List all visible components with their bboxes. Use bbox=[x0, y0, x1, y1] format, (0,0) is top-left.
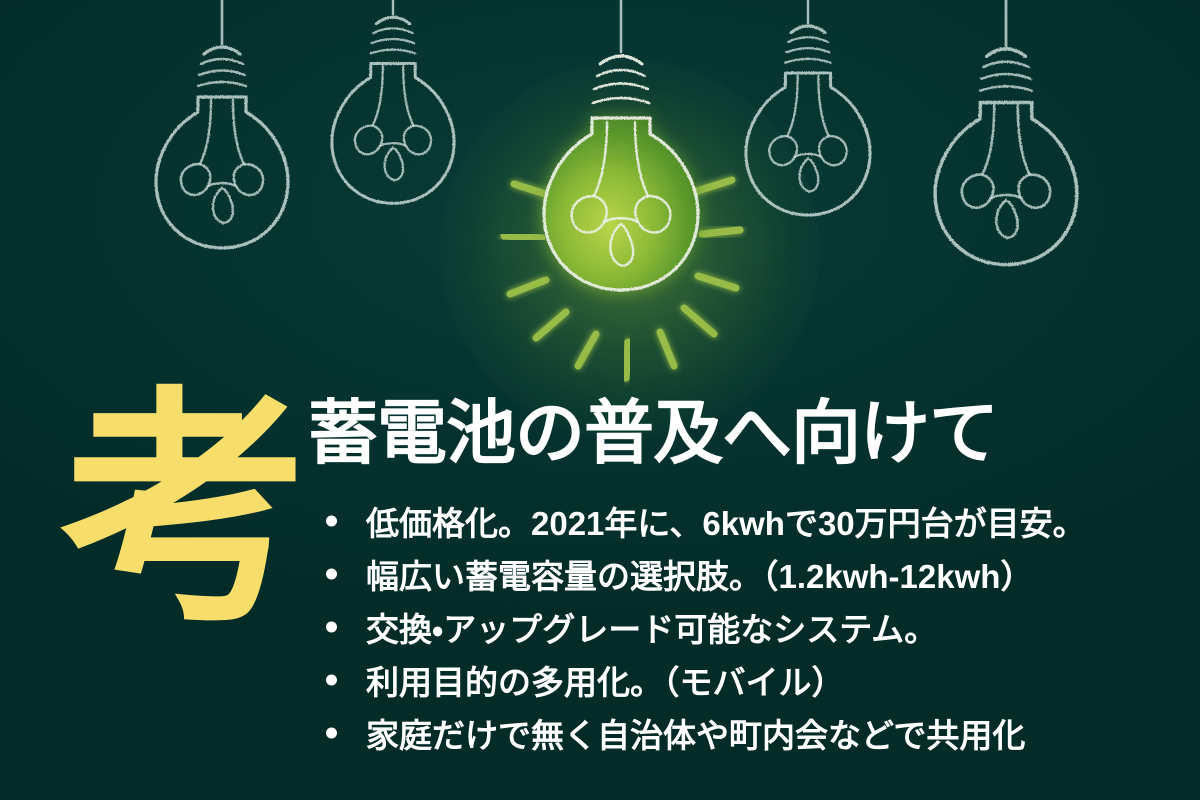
list-item-label: 交換・アップグレード可能なシステム。 bbox=[366, 603, 937, 651]
list-item-label: 幅広い蓄電容量の選択肢。（1.2kwh-12kwh） bbox=[366, 550, 1033, 598]
list-item: 低価格化。2021年に、6kwhで30万円台が目安。 bbox=[322, 494, 1192, 547]
list-item: 幅広い蓄電容量の選択肢。（1.2kwh-12kwh） bbox=[322, 547, 1192, 600]
list-item-label: 利用目的の多用化。（モバイル） bbox=[366, 656, 845, 704]
poster-content: 考 蓄電池の普及へ向けて 低価格化。2021年に、6kwhで30万円台が目安。 … bbox=[0, 0, 1200, 800]
poster-canvas: 考 蓄電池の普及へ向けて 低価格化。2021年に、6kwhで30万円台が目安。 … bbox=[0, 0, 1200, 800]
bullet-dot-icon bbox=[326, 621, 337, 632]
bullet-dot-icon bbox=[326, 674, 337, 685]
bullet-list: 低価格化。2021年に、6kwhで30万円台が目安。 幅広い蓄電容量の選択肢。（… bbox=[322, 494, 1192, 759]
list-item-label: 家庭だけで無く自治体や町内会などで共用化 bbox=[366, 709, 1025, 757]
page-title: 蓄電池の普及へ向けて bbox=[308, 398, 1168, 468]
list-item-label: 低価格化。2021年に、6kwhで30万円台が目安。 bbox=[366, 497, 1086, 545]
bullet-dot-icon bbox=[326, 515, 337, 526]
bullet-dot-icon bbox=[326, 727, 337, 738]
list-item: 家庭だけで無く自治体や町内会などで共用化 bbox=[322, 706, 1192, 759]
bullet-dot-icon bbox=[326, 568, 337, 579]
list-item: 交換・アップグレード可能なシステム。 bbox=[322, 600, 1192, 653]
kanji-badge: 考 bbox=[64, 388, 308, 634]
list-item: 利用目的の多用化。（モバイル） bbox=[322, 653, 1192, 706]
